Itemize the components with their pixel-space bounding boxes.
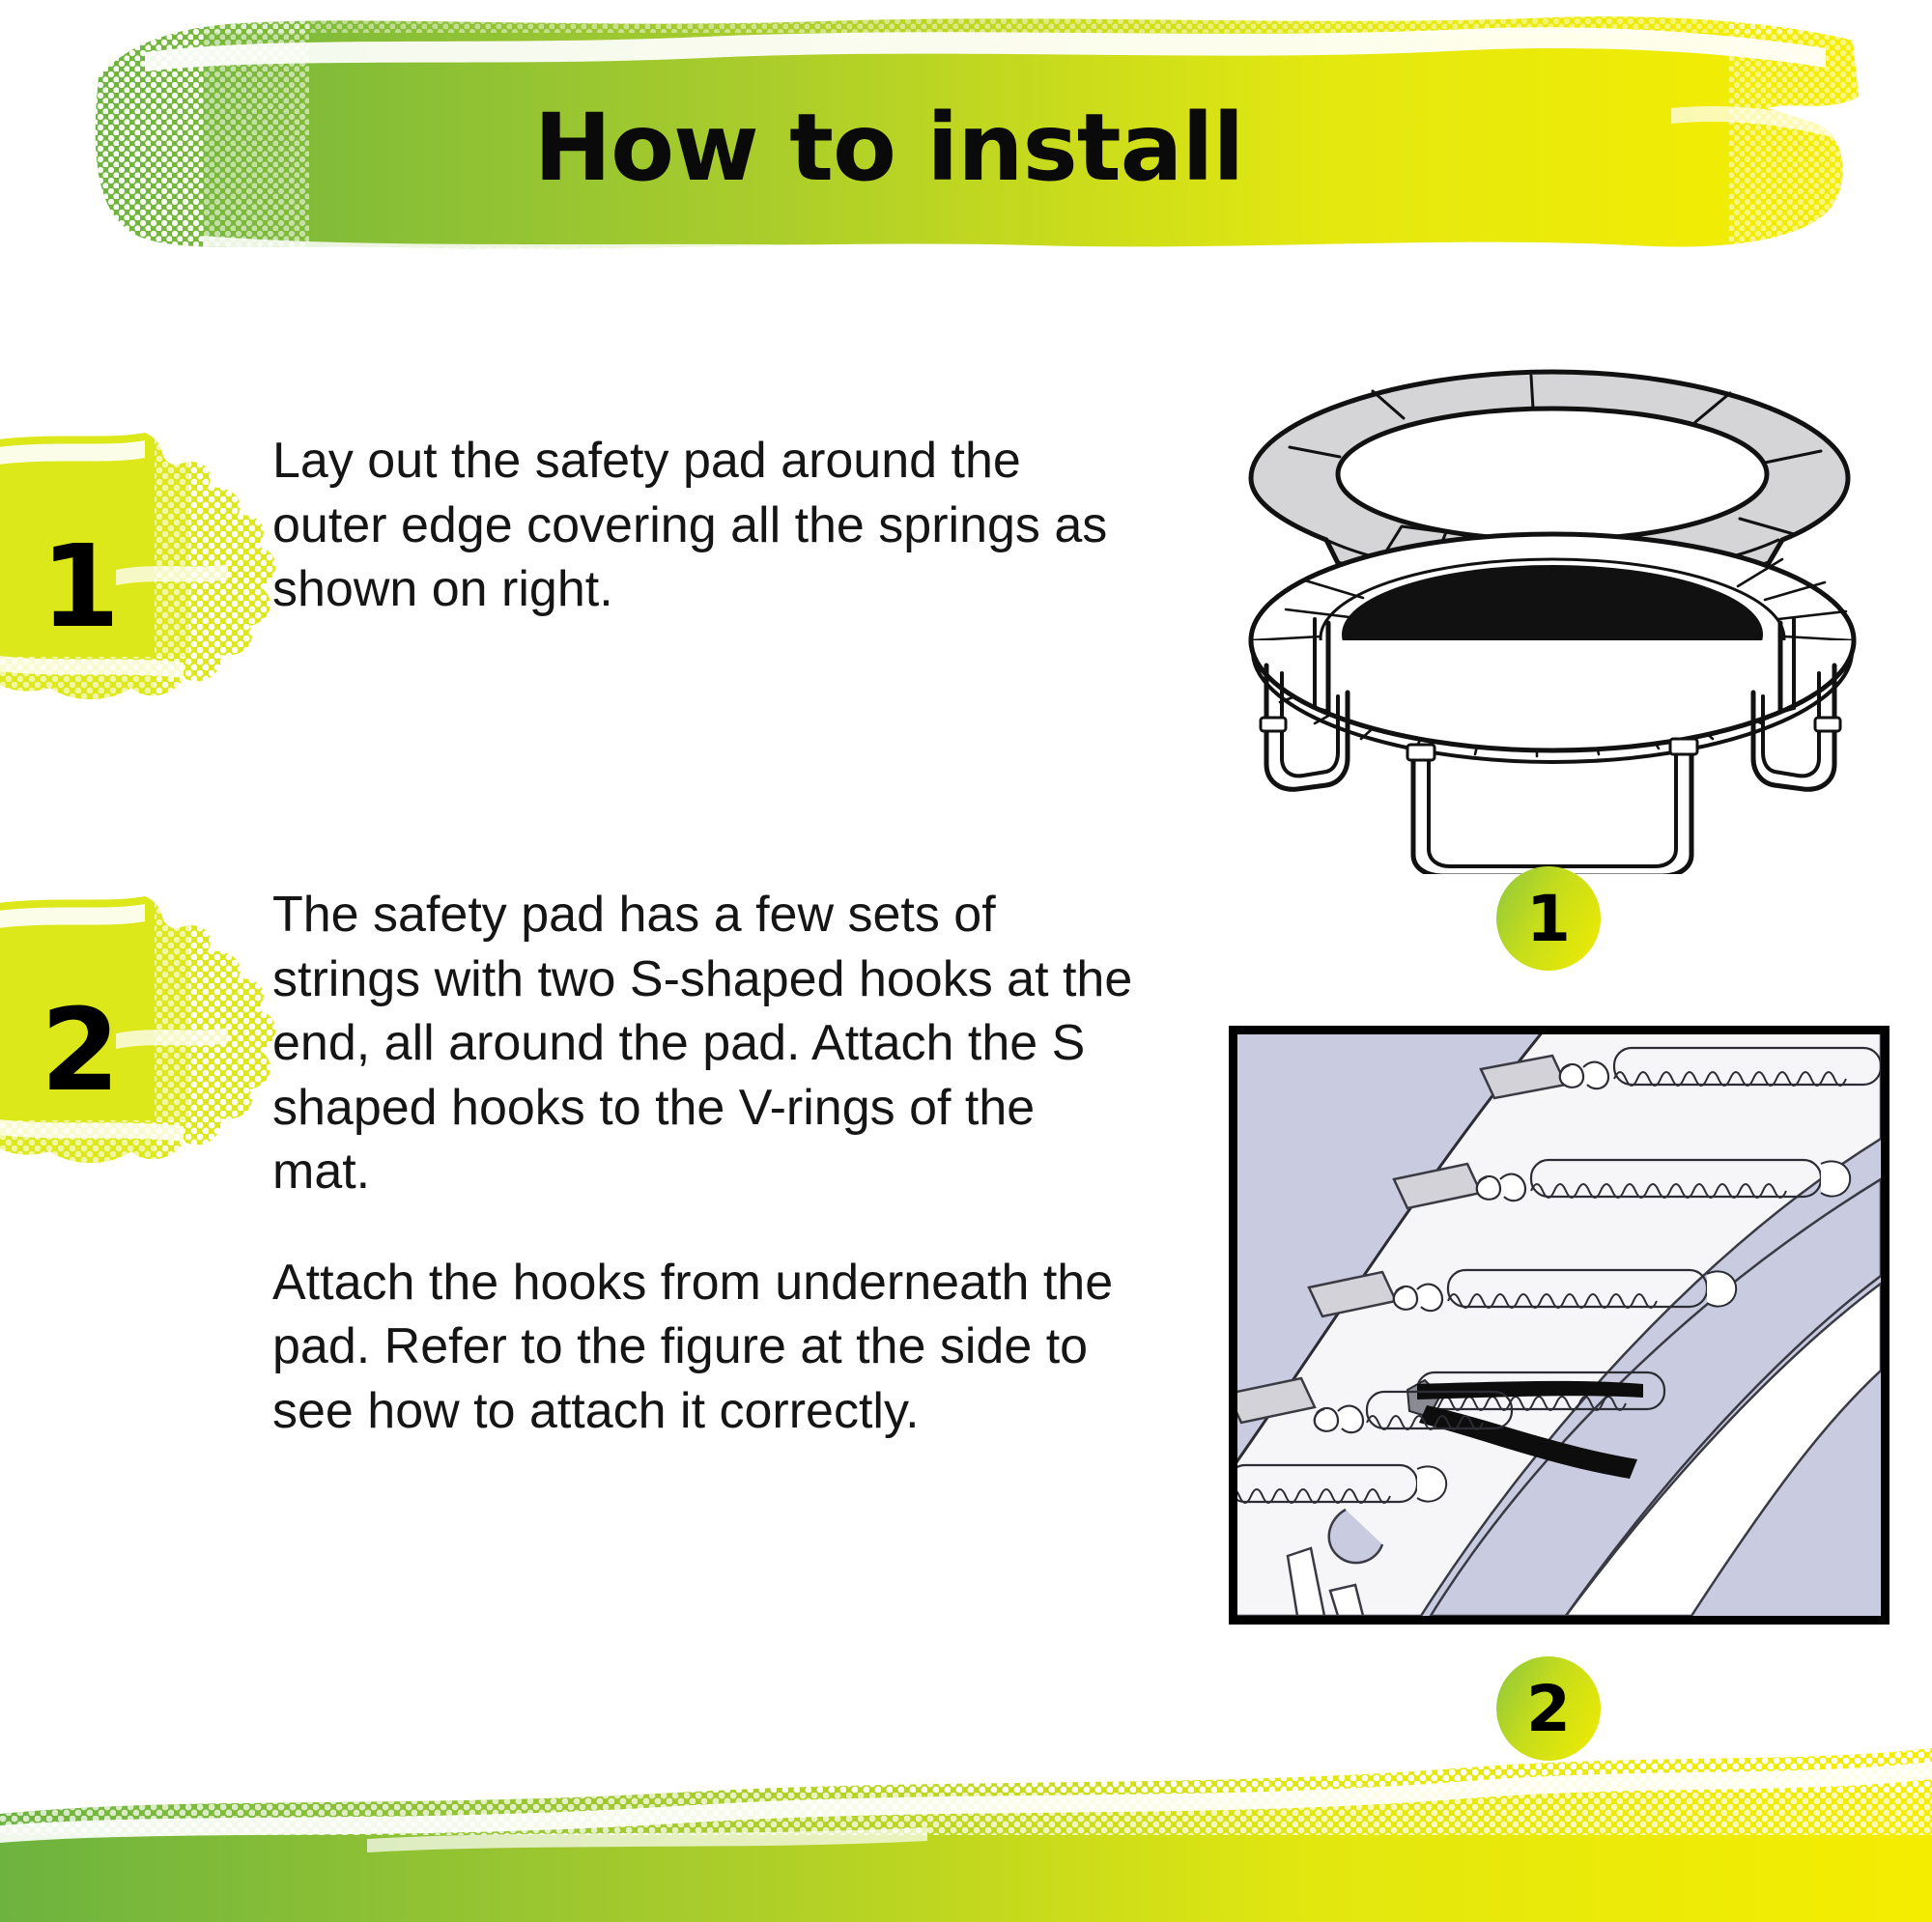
figure-badge-1: 1 (1496, 866, 1601, 971)
step-1-text: Lay out the safety pad around the outer … (272, 429, 1142, 622)
step-2-paragraph-2: Attach the hooks from underneath the pad… (272, 1251, 1142, 1444)
step-2-text: The safety pad has a few sets of strings… (272, 883, 1142, 1443)
page-title: How to install (87, 8, 1864, 288)
step-1-number: 1 (41, 529, 156, 643)
header-banner: How to install (87, 8, 1864, 288)
spring-detail-panel (1229, 1026, 1889, 1625)
footer-banner (0, 1700, 1932, 1922)
step-2-paragraph-1: The safety pad has a few sets of strings… (272, 883, 1142, 1204)
step-1-paragraph-1: Lay out the safety pad around the outer … (272, 429, 1142, 622)
trampoline-illustration (1193, 333, 1908, 874)
footer-brush-stroke-icon (0, 1700, 1932, 1922)
step-2-number: 2 (41, 993, 156, 1107)
